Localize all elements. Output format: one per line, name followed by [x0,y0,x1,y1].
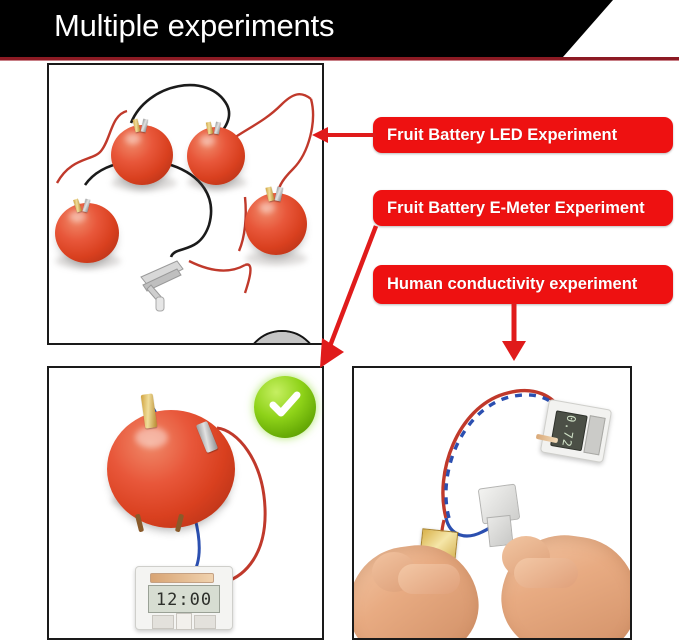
callout-led-label: Fruit Battery LED Experiment [387,126,617,145]
panel-fruit-battery-led [47,63,324,345]
panel-human-conductivity: 0.72 [352,366,632,640]
header-divider-line-2 [0,60,679,61]
callout-human-label: Human conductivity experiment [387,275,637,294]
fruit-tomato-main [107,410,235,528]
digital-clock: 12:00 [135,566,233,630]
clock-time-value: 12:00 [149,590,219,610]
success-check-badge [254,376,316,438]
callout-human-conductivity[interactable]: Human conductivity experiment [373,265,673,304]
fruit-tomato-2 [187,127,245,185]
fruit-tomato-4 [245,193,307,255]
clock-top-strip [150,573,214,583]
voltmeter-lcd: 0.72 [550,410,588,451]
arrow-diagonal-to-emeter-panel [300,222,390,370]
clock-button-left[interactable] [152,615,174,629]
arrow-down-to-human-panel [496,303,532,365]
fruit-tomato-1 [111,125,173,185]
right-finger [514,558,578,588]
clock-button-right[interactable] [194,615,216,629]
voltmeter-value: 0.72 [560,414,579,446]
clock-lcd: 12:00 [148,585,220,613]
callout-emeter-label: Fruit Battery E-Meter Experiment [387,199,645,218]
arrow-left-to-led-panel [310,120,380,152]
clock-button-center[interactable] [176,613,192,630]
alligator-clip-icon [137,247,207,317]
page-title: Multiple experiments [54,8,334,44]
callout-fruit-battery-emeter[interactable]: Fruit Battery E-Meter Experiment [373,190,673,226]
header-bar: Multiple experiments [0,0,679,57]
digital-voltmeter: 0.72 [540,399,612,463]
callout-fruit-battery-led[interactable]: Fruit Battery LED Experiment [373,117,673,153]
check-icon [267,387,303,423]
left-finger [398,564,460,594]
